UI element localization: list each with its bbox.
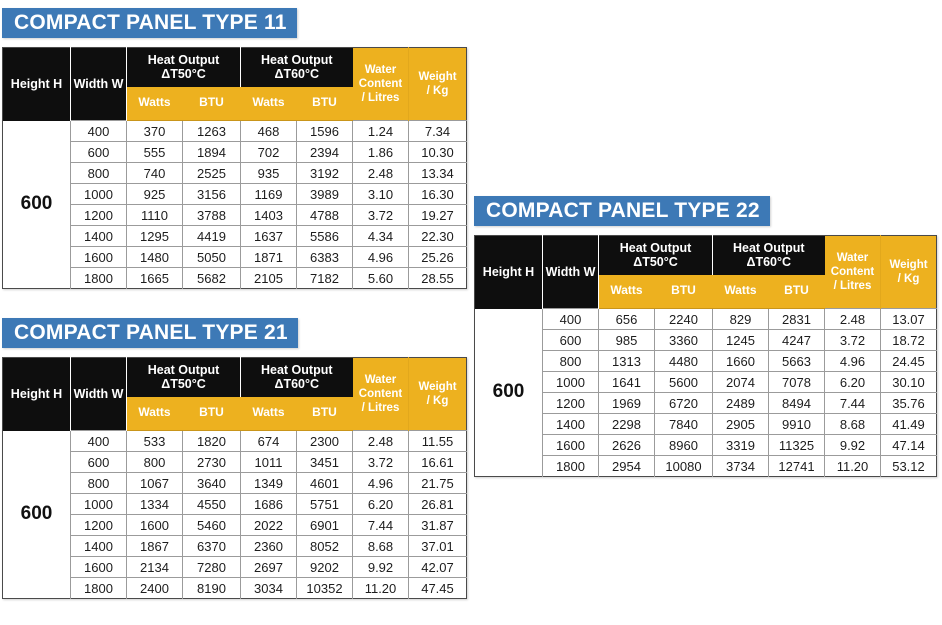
cell-water-content: 11.20 (825, 456, 881, 477)
cell-watts-dt60: 3734 (713, 456, 769, 477)
unit-header-btu-dt50: BTU (183, 87, 241, 121)
cell-width: 1200 (71, 205, 127, 226)
cell-weight: 11.55 (409, 431, 467, 452)
cell-watts-dt50: 740 (127, 163, 183, 184)
col-header-weight: Weight / Kg (409, 358, 467, 431)
table-row: 100016415600207470786.2030.10 (475, 372, 937, 393)
cell-weight: 30.10 (881, 372, 937, 393)
cell-watts-dt50: 1665 (127, 268, 183, 289)
cell-btu-dt50: 10080 (655, 456, 713, 477)
cell-btu-dt50: 5600 (655, 372, 713, 393)
table-row: 600400533182067423002.4811.55 (3, 431, 467, 452)
water-content-line2: Content (831, 266, 874, 278)
cell-width: 1400 (543, 414, 599, 435)
cell-btu-dt60: 4247 (769, 330, 825, 351)
cell-btu-dt50: 8190 (183, 578, 241, 599)
cell-watts-dt50: 1867 (127, 536, 183, 557)
cell-btu-dt50: 3640 (183, 473, 241, 494)
panel-title-type-11: COMPACT PANEL TYPE 11 (2, 8, 297, 38)
cell-watts-dt60: 1011 (241, 452, 297, 473)
cell-weight: 47.45 (409, 578, 467, 599)
cell-weight: 16.61 (409, 452, 467, 473)
cell-btu-dt50: 4480 (655, 351, 713, 372)
cell-weight: 24.45 (881, 351, 937, 372)
panel-type-21: COMPACT PANEL TYPE 21 Height H Width W H… (2, 318, 466, 599)
table-row: 140018676370236080528.6837.01 (3, 536, 467, 557)
cell-weight: 22.30 (409, 226, 467, 247)
table-row: 600555189470223941.8610.30 (3, 142, 467, 163)
col-header-water-content: Water Content / Litres (353, 358, 409, 431)
cell-width: 1000 (543, 372, 599, 393)
cell-watts-dt50: 1110 (127, 205, 183, 226)
cell-watts-dt50: 1600 (127, 515, 183, 536)
cell-water-content: 4.96 (353, 247, 409, 268)
col-header-water-content: Water Content / Litres (825, 236, 881, 309)
water-content-line2: Content (359, 78, 402, 90)
cell-water-content: 4.34 (353, 226, 409, 247)
cell-btu-dt50: 2730 (183, 452, 241, 473)
cell-water-content: 11.20 (353, 578, 409, 599)
cell-width: 1800 (543, 456, 599, 477)
heat-output-dt50-line1: Heat Output (148, 363, 220, 377)
cell-watts-dt50: 2400 (127, 578, 183, 599)
cell-width: 1600 (71, 557, 127, 578)
cell-water-content: 9.92 (825, 435, 881, 456)
panel-title-type-22: COMPACT PANEL TYPE 22 (474, 196, 770, 226)
unit-header-btu-dt50: BTU (655, 275, 713, 309)
cell-watts-dt60: 3319 (713, 435, 769, 456)
cell-watts-dt60: 2022 (241, 515, 297, 536)
panel-type-22: COMPACT PANEL TYPE 22 Height H Width W H… (474, 196, 936, 477)
heat-output-dt60-line2: ΔT60°C (274, 67, 319, 81)
cell-weight: 53.12 (881, 456, 937, 477)
cell-width: 400 (71, 431, 127, 452)
cell-water-content: 1.24 (353, 121, 409, 142)
cell-watts-dt50: 656 (599, 309, 655, 330)
cell-btu-dt60: 6383 (297, 247, 353, 268)
weight-line1: Weight (889, 259, 927, 271)
cell-water-content: 3.72 (825, 330, 881, 351)
heat-output-dt60-line2: ΔT60°C (746, 255, 791, 269)
cell-btu-dt60: 5586 (297, 226, 353, 247)
cell-height-merged: 600 (3, 121, 71, 289)
cell-btu-dt60: 5663 (769, 351, 825, 372)
cell-watts-dt60: 674 (241, 431, 297, 452)
cell-btu-dt50: 1820 (183, 431, 241, 452)
cell-watts-dt60: 1403 (241, 205, 297, 226)
heat-output-dt50-line1: Heat Output (148, 53, 220, 67)
cell-watts-dt50: 985 (599, 330, 655, 351)
cell-width: 600 (543, 330, 599, 351)
cell-btu-dt60: 6901 (297, 515, 353, 536)
table-row: 140012954419163755864.3422.30 (3, 226, 467, 247)
cell-width: 1800 (71, 268, 127, 289)
spec-table-type-21: Height H Width W Heat Output ΔT50°C Heat… (2, 357, 467, 599)
col-header-heat-output-dt50: Heat Output ΔT50°C (599, 236, 713, 275)
table-row: 600400656224082928312.4813.07 (475, 309, 937, 330)
weight-line2: / Kg (427, 395, 449, 407)
panel-title-type-21: COMPACT PANEL TYPE 21 (2, 318, 298, 348)
unit-header-watts-dt50: Watts (599, 275, 655, 309)
table-row: 100013344550168657516.2026.81 (3, 494, 467, 515)
cell-water-content: 9.92 (353, 557, 409, 578)
heat-output-dt60-line1: Heat Output (261, 53, 333, 67)
table-row: 6009853360124542473.7218.72 (475, 330, 937, 351)
cell-watts-dt60: 1245 (713, 330, 769, 351)
cell-btu-dt60: 12741 (769, 456, 825, 477)
table-header-row-primary: Height H Width W Heat Output ΔT50°C Heat… (475, 236, 937, 275)
unit-header-btu-dt60: BTU (297, 87, 353, 121)
cell-watts-dt50: 800 (127, 452, 183, 473)
col-header-heat-output-dt50: Heat Output ΔT50°C (127, 358, 241, 397)
cell-watts-dt50: 370 (127, 121, 183, 142)
cell-weight: 35.76 (881, 393, 937, 414)
cell-weight: 18.72 (881, 330, 937, 351)
cell-btu-dt50: 5682 (183, 268, 241, 289)
spec-table-type-11: Height H Width W Heat Output ΔT50°C Heat… (2, 47, 467, 289)
cell-width: 1600 (71, 247, 127, 268)
cell-watts-dt60: 829 (713, 309, 769, 330)
table-header-row-primary: Height H Width W Heat Output ΔT50°C Heat… (3, 358, 467, 397)
cell-weight: 21.75 (409, 473, 467, 494)
cell-watts-dt50: 2134 (127, 557, 183, 578)
cell-width: 600 (71, 142, 127, 163)
cell-width: 800 (71, 163, 127, 184)
cell-btu-dt60: 9910 (769, 414, 825, 435)
cell-water-content: 4.96 (353, 473, 409, 494)
table-row: 80010673640134946014.9621.75 (3, 473, 467, 494)
cell-watts-dt50: 1480 (127, 247, 183, 268)
cell-watts-dt50: 2954 (599, 456, 655, 477)
cell-btu-dt60: 3192 (297, 163, 353, 184)
table-row: 160014805050187163834.9625.26 (3, 247, 467, 268)
panel-type-11: COMPACT PANEL TYPE 11 Height H Width W H… (2, 8, 466, 289)
cell-watts-dt50: 1067 (127, 473, 183, 494)
unit-header-watts-dt60: Watts (713, 275, 769, 309)
cell-water-content: 2.48 (353, 431, 409, 452)
cell-btu-dt60: 7078 (769, 372, 825, 393)
cell-weight: 10.30 (409, 142, 467, 163)
cell-btu-dt60: 2300 (297, 431, 353, 452)
cell-watts-dt50: 1969 (599, 393, 655, 414)
cell-width: 1400 (71, 226, 127, 247)
cell-water-content: 2.48 (353, 163, 409, 184)
cell-watts-dt60: 1660 (713, 351, 769, 372)
cell-width: 400 (543, 309, 599, 330)
heat-output-dt50-line1: Heat Output (620, 241, 692, 255)
cell-watts-dt50: 1295 (127, 226, 183, 247)
water-content-line3: / Litres (362, 402, 400, 414)
cell-watts-dt60: 3034 (241, 578, 297, 599)
cell-watts-dt60: 2074 (713, 372, 769, 393)
cell-btu-dt60: 2831 (769, 309, 825, 330)
cell-watts-dt60: 1349 (241, 473, 297, 494)
cell-watts-dt60: 1686 (241, 494, 297, 515)
cell-btu-dt50: 2525 (183, 163, 241, 184)
cell-water-content: 7.44 (353, 515, 409, 536)
unit-header-btu-dt60: BTU (769, 275, 825, 309)
cell-water-content: 5.60 (353, 268, 409, 289)
cell-btu-dt60: 10352 (297, 578, 353, 599)
cell-water-content: 3.72 (353, 205, 409, 226)
cell-watts-dt50: 1334 (127, 494, 183, 515)
cell-watts-dt60: 935 (241, 163, 297, 184)
cell-watts-dt60: 2360 (241, 536, 297, 557)
cell-btu-dt60: 5751 (297, 494, 353, 515)
cell-btu-dt60: 2394 (297, 142, 353, 163)
col-header-weight: Weight / Kg (881, 236, 937, 309)
heat-output-dt60-line1: Heat Output (261, 363, 333, 377)
cell-weight: 26.81 (409, 494, 467, 515)
table-row: 140022987840290599108.6841.49 (475, 414, 937, 435)
table-row: 800740252593531922.4813.34 (3, 163, 467, 184)
col-header-width: Width W (71, 358, 127, 431)
cell-width: 800 (71, 473, 127, 494)
cell-weight: 31.87 (409, 515, 467, 536)
cell-btu-dt50: 8960 (655, 435, 713, 456)
table-row: 1600262689603319113259.9247.14 (475, 435, 937, 456)
cell-watts-dt60: 1871 (241, 247, 297, 268)
unit-header-watts-dt50: Watts (127, 87, 183, 121)
table-row: 120016005460202269017.4431.87 (3, 515, 467, 536)
weight-line2: / Kg (427, 85, 449, 97)
table-row: 80013134480166056634.9624.45 (475, 351, 937, 372)
table-row: 120011103788140347883.7219.27 (3, 205, 467, 226)
cell-btu-dt50: 4550 (183, 494, 241, 515)
cell-btu-dt60: 3451 (297, 452, 353, 473)
cell-btu-dt50: 5050 (183, 247, 241, 268)
col-header-width: Width W (543, 236, 599, 309)
cell-btu-dt50: 7840 (655, 414, 713, 435)
cell-width: 800 (543, 351, 599, 372)
table-row: 6008002730101134513.7216.61 (3, 452, 467, 473)
cell-width: 1000 (71, 494, 127, 515)
cell-weight: 19.27 (409, 205, 467, 226)
cell-btu-dt60: 9202 (297, 557, 353, 578)
cell-width: 1200 (543, 393, 599, 414)
cell-btu-dt50: 1894 (183, 142, 241, 163)
cell-watts-dt50: 555 (127, 142, 183, 163)
cell-weight: 25.26 (409, 247, 467, 268)
cell-weight: 13.07 (881, 309, 937, 330)
cell-watts-dt50: 925 (127, 184, 183, 205)
cell-width: 400 (71, 121, 127, 142)
cell-width: 600 (71, 452, 127, 473)
cell-weight: 16.30 (409, 184, 467, 205)
heat-output-dt60-line1: Heat Output (733, 241, 805, 255)
table-row: 120019696720248984947.4435.76 (475, 393, 937, 414)
water-content-line3: / Litres (362, 92, 400, 104)
cell-btu-dt50: 1263 (183, 121, 241, 142)
cell-weight: 28.55 (409, 268, 467, 289)
heat-output-dt50-line2: ΔT50°C (633, 255, 678, 269)
cell-btu-dt60: 7182 (297, 268, 353, 289)
cell-width: 1600 (543, 435, 599, 456)
cell-btu-dt50: 3156 (183, 184, 241, 205)
cell-watts-dt50: 1641 (599, 372, 655, 393)
cell-watts-dt60: 702 (241, 142, 297, 163)
cell-water-content: 3.10 (353, 184, 409, 205)
cell-water-content: 8.68 (825, 414, 881, 435)
cell-btu-dt60: 4788 (297, 205, 353, 226)
table-row: 10009253156116939893.1016.30 (3, 184, 467, 205)
col-header-height: Height H (3, 48, 71, 121)
cell-weight: 7.34 (409, 121, 467, 142)
col-header-heat-output-dt50: Heat Output ΔT50°C (127, 48, 241, 87)
table-header-row-primary: Height H Width W Heat Output ΔT50°C Heat… (3, 48, 467, 87)
cell-btu-dt50: 2240 (655, 309, 713, 330)
cell-water-content: 6.20 (825, 372, 881, 393)
cell-watts-dt60: 468 (241, 121, 297, 142)
table-row: 18002400819030341035211.2047.45 (3, 578, 467, 599)
heat-output-dt60-line2: ΔT60°C (274, 377, 319, 391)
water-content-line1: Water (365, 64, 397, 76)
cell-water-content: 7.44 (825, 393, 881, 414)
water-content-line3: / Litres (834, 280, 872, 292)
cell-width: 1000 (71, 184, 127, 205)
table-body-type-22: 600400656224082928312.4813.0760098533601… (475, 309, 937, 477)
table-row: 600400370126346815961.247.34 (3, 121, 467, 142)
cell-watts-dt50: 1313 (599, 351, 655, 372)
col-header-water-content: Water Content / Litres (353, 48, 409, 121)
heat-output-dt50-line2: ΔT50°C (161, 67, 206, 81)
cell-weight: 41.49 (881, 414, 937, 435)
cell-btu-dt50: 3360 (655, 330, 713, 351)
cell-water-content: 4.96 (825, 351, 881, 372)
col-header-weight: Weight / Kg (409, 48, 467, 121)
unit-header-btu-dt50: BTU (183, 397, 241, 431)
unit-header-watts-dt60: Watts (241, 87, 297, 121)
cell-btu-dt50: 3788 (183, 205, 241, 226)
cell-btu-dt50: 7280 (183, 557, 241, 578)
cell-width: 1200 (71, 515, 127, 536)
cell-watts-dt60: 1637 (241, 226, 297, 247)
cell-water-content: 1.86 (353, 142, 409, 163)
cell-watts-dt60: 2105 (241, 268, 297, 289)
cell-height-merged: 600 (3, 431, 71, 599)
col-header-heat-output-dt60: Heat Output ΔT60°C (241, 48, 353, 87)
cell-width: 1800 (71, 578, 127, 599)
cell-btu-dt50: 5460 (183, 515, 241, 536)
cell-watts-dt50: 2298 (599, 414, 655, 435)
water-content-line1: Water (365, 374, 397, 386)
cell-width: 1400 (71, 536, 127, 557)
water-content-line1: Water (837, 252, 869, 264)
table-row: 180016655682210571825.6028.55 (3, 268, 467, 289)
col-header-height: Height H (475, 236, 543, 309)
cell-watts-dt60: 2697 (241, 557, 297, 578)
spec-table-type-22: Height H Width W Heat Output ΔT50°C Heat… (474, 235, 937, 477)
cell-btu-dt50: 6720 (655, 393, 713, 414)
weight-line2: / Kg (898, 273, 920, 285)
cell-btu-dt60: 11325 (769, 435, 825, 456)
cell-weight: 37.01 (409, 536, 467, 557)
table-body-type-21: 600400533182067423002.4811.5560080027301… (3, 431, 467, 599)
cell-water-content: 6.20 (353, 494, 409, 515)
cell-water-content: 2.48 (825, 309, 881, 330)
cell-btu-dt60: 8494 (769, 393, 825, 414)
cell-weight: 13.34 (409, 163, 467, 184)
cell-water-content: 8.68 (353, 536, 409, 557)
water-content-line2: Content (359, 388, 402, 400)
cell-btu-dt60: 3989 (297, 184, 353, 205)
cell-watts-dt50: 533 (127, 431, 183, 452)
unit-header-btu-dt60: BTU (297, 397, 353, 431)
cell-watts-dt50: 2626 (599, 435, 655, 456)
table-row: 160021347280269792029.9242.07 (3, 557, 467, 578)
cell-weight: 47.14 (881, 435, 937, 456)
cell-btu-dt60: 4601 (297, 473, 353, 494)
col-header-width: Width W (71, 48, 127, 121)
cell-watts-dt60: 1169 (241, 184, 297, 205)
cell-water-content: 3.72 (353, 452, 409, 473)
heat-output-dt50-line2: ΔT50°C (161, 377, 206, 391)
cell-btu-dt50: 4419 (183, 226, 241, 247)
col-header-heat-output-dt60: Heat Output ΔT60°C (241, 358, 353, 397)
weight-line1: Weight (418, 381, 456, 393)
cell-btu-dt50: 6370 (183, 536, 241, 557)
cell-btu-dt60: 8052 (297, 536, 353, 557)
table-row: 180029541008037341274111.2053.12 (475, 456, 937, 477)
cell-weight: 42.07 (409, 557, 467, 578)
weight-line1: Weight (418, 71, 456, 83)
unit-header-watts-dt50: Watts (127, 397, 183, 431)
cell-watts-dt60: 2905 (713, 414, 769, 435)
cell-watts-dt60: 2489 (713, 393, 769, 414)
table-body-type-11: 600400370126346815961.247.34600555189470… (3, 121, 467, 289)
cell-height-merged: 600 (475, 309, 543, 477)
unit-header-watts-dt60: Watts (241, 397, 297, 431)
col-header-height: Height H (3, 358, 71, 431)
col-header-heat-output-dt60: Heat Output ΔT60°C (713, 236, 825, 275)
cell-btu-dt60: 1596 (297, 121, 353, 142)
